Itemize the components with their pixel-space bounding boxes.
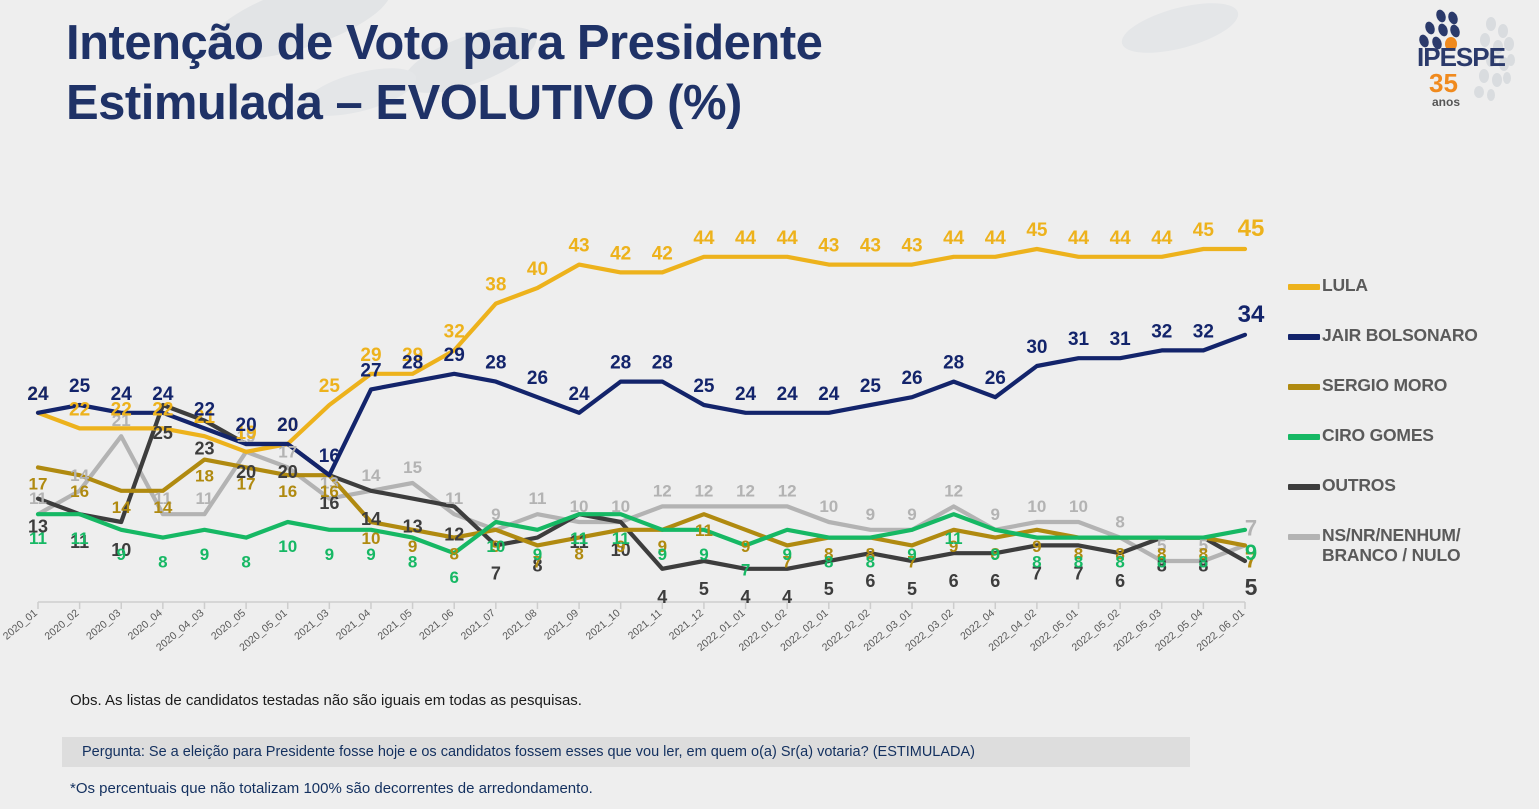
data-label: 4	[741, 587, 751, 607]
legend-swatch-bolsonaro	[1288, 334, 1320, 340]
data-label: 11	[945, 529, 963, 548]
title-line-1: Intenção de Voto para Presidente	[66, 14, 1186, 74]
data-label: 11	[695, 521, 713, 540]
data-label: 10	[278, 537, 297, 556]
data-label: 15	[403, 458, 422, 477]
x-axis-label: 2022_04	[958, 607, 997, 643]
title-line-2: Estimulada – EVOLUTIVO (%)	[66, 74, 1186, 134]
data-label: 11	[29, 529, 47, 548]
data-label: 32	[444, 321, 465, 342]
x-axis-label: 2021_09	[542, 607, 581, 643]
data-label: 5	[1245, 574, 1258, 600]
data-label: 24	[152, 384, 174, 405]
legend-label-nsnr: NS/NR/NENHUM/ BRANCO / NULO	[1322, 525, 1536, 565]
data-label: 9	[533, 545, 542, 564]
x-axis-label: 2020_01	[1, 607, 40, 643]
data-label: 8	[408, 553, 417, 572]
data-label: 9	[991, 505, 1000, 524]
data-label: 40	[527, 259, 548, 280]
data-label: 22	[69, 399, 90, 420]
data-label: 28	[610, 353, 631, 374]
data-label: 8	[1115, 513, 1124, 532]
data-label: 11	[445, 489, 463, 508]
data-label: 8	[1199, 553, 1208, 572]
data-label: 13	[403, 517, 423, 537]
data-label: 25	[69, 376, 91, 397]
data-label: 44	[943, 228, 965, 249]
data-label: 9	[200, 545, 209, 564]
question-text: Pergunta: Se a eleição para Presidente f…	[62, 744, 975, 760]
data-label: 34	[1238, 301, 1265, 328]
x-axis-label: 2020_05	[209, 607, 248, 643]
data-label: 7	[741, 560, 750, 579]
data-label: 16	[320, 482, 339, 501]
data-label: 14	[112, 498, 131, 517]
data-label: 17	[237, 474, 256, 493]
data-label: 45	[1026, 220, 1048, 241]
data-label: 8	[1074, 553, 1083, 572]
data-label: 43	[568, 236, 589, 257]
data-label: 8	[1115, 553, 1124, 572]
data-label: 22	[194, 399, 215, 420]
data-label: 8	[158, 553, 167, 572]
legend-item-ciro[interactable]: CIRO GOMES	[1288, 425, 1536, 475]
data-label: 42	[652, 243, 673, 264]
data-label: 6	[949, 571, 959, 591]
data-label: 32	[1193, 321, 1214, 342]
data-label: 24	[27, 384, 49, 405]
data-label: 23	[194, 439, 214, 459]
legend-swatch-nsnr	[1288, 534, 1320, 540]
data-label: 14	[153, 498, 172, 517]
data-label: 4	[657, 587, 667, 607]
data-label: 38	[485, 275, 506, 296]
legend-label-ciro: CIRO GOMES	[1322, 425, 1434, 445]
data-label: 43	[901, 236, 922, 257]
x-axis-label: 2021_10	[584, 607, 623, 643]
data-label: 8	[866, 553, 875, 572]
data-label: 20	[236, 415, 257, 436]
data-label: 10	[611, 497, 630, 516]
legend-item-nsnr[interactable]: NS/NR/NENHUM/ BRANCO / NULO	[1288, 525, 1536, 575]
data-label: 44	[777, 228, 799, 249]
data-label: 12	[653, 481, 672, 500]
data-label: 17	[278, 442, 297, 461]
data-label: 16	[278, 482, 297, 501]
data-label: 9	[866, 505, 875, 524]
data-label: 27	[360, 360, 381, 381]
rounding-footnote: *Os percentuais que não totalizam 100% s…	[70, 780, 593, 797]
data-label: 7	[1245, 515, 1257, 540]
evolution-line-chart: 2020_012020_022020_032020_042020_04_0320…	[0, 200, 1290, 670]
x-axis-label: 2021_08	[500, 607, 539, 643]
x-axis-label: 2021_11	[626, 607, 665, 642]
ipespe-logo: IPESPE 35 anos	[1399, 4, 1519, 114]
data-label: 16	[319, 446, 340, 467]
data-label: 7	[491, 563, 501, 583]
legend-label-bolsonaro: JAIR BOLSONARO	[1322, 325, 1478, 345]
data-label: 9	[366, 545, 375, 564]
data-label: 12	[444, 524, 464, 544]
data-label: 10	[1027, 497, 1046, 516]
data-label: 8	[824, 553, 833, 572]
data-label: 26	[527, 368, 548, 389]
data-label: 5	[824, 579, 834, 599]
data-label: 8	[1032, 553, 1041, 572]
x-axis-label: 2021_03	[292, 607, 331, 643]
data-label: 17	[29, 474, 48, 493]
data-label: 4	[782, 587, 792, 607]
legend-swatch-lula	[1288, 284, 1320, 290]
data-label: 25	[319, 376, 341, 397]
legend-swatch-outros	[1288, 484, 1320, 490]
data-label: 20	[278, 462, 298, 482]
data-label: 26	[901, 368, 922, 389]
data-label: 25	[860, 376, 882, 397]
data-label: 11	[612, 529, 630, 548]
x-axis-label: 2020_02	[43, 607, 82, 643]
data-label: 24	[111, 384, 133, 405]
data-label: 24	[568, 384, 590, 405]
legend-swatch-ciro	[1288, 434, 1320, 440]
data-label: 11	[528, 489, 546, 508]
series-line-lula	[38, 249, 1245, 452]
x-axis-label: 2020_03	[84, 607, 123, 643]
data-label: 14	[361, 509, 381, 529]
legend-label-moro: SERGIO MORO	[1322, 375, 1447, 395]
data-label: 14	[362, 466, 381, 485]
data-label: 9	[907, 545, 916, 564]
legend-item-moro[interactable]: SERGIO MORO	[1288, 375, 1536, 425]
data-label: 9	[782, 545, 791, 564]
x-axis-label: 2021_05	[375, 607, 414, 643]
data-label: 11	[71, 529, 89, 548]
data-label: 45	[1238, 215, 1265, 242]
data-label: 8	[449, 545, 458, 564]
data-label: 29	[444, 345, 465, 366]
data-label: 26	[985, 368, 1006, 389]
data-label: 6	[1115, 571, 1125, 591]
data-label: 9	[658, 545, 667, 564]
data-label: 11	[195, 489, 213, 508]
legend-item-outros[interactable]: OUTROS	[1288, 475, 1536, 525]
data-label: 9	[991, 545, 1000, 564]
chart-plot-area: 2020_012020_022020_032020_042020_04_0320…	[0, 200, 1290, 670]
data-label: 10	[819, 497, 838, 516]
data-label: 28	[652, 353, 673, 374]
data-label: 12	[736, 481, 755, 500]
data-label: 30	[1026, 337, 1047, 358]
svg-text:35: 35	[1429, 68, 1458, 98]
data-label: 44	[693, 228, 715, 249]
data-label: 8	[1157, 553, 1166, 572]
legend-item-lula[interactable]: LULA	[1288, 275, 1536, 325]
data-label: 24	[735, 384, 757, 405]
data-label: 18	[195, 467, 214, 486]
data-label: 8	[241, 553, 250, 572]
data-label: 28	[943, 353, 964, 374]
data-label: 31	[1110, 329, 1132, 350]
x-axis-label: 2020_04	[126, 607, 165, 643]
svg-text:anos: anos	[1432, 95, 1460, 109]
legend-item-bolsonaro[interactable]: JAIR BOLSONARO	[1288, 325, 1536, 375]
data-label: 25	[693, 376, 715, 397]
data-label: 5	[699, 579, 709, 599]
data-label: 6	[865, 571, 875, 591]
data-label: 9	[1245, 540, 1257, 565]
data-label: 9	[741, 537, 750, 556]
data-label: 44	[1068, 228, 1090, 249]
data-label: 6	[990, 571, 1000, 591]
data-label: 45	[1193, 220, 1215, 241]
data-label: 24	[777, 384, 799, 405]
data-label: 43	[818, 236, 839, 257]
series-line-jair-bolsonaro	[38, 335, 1245, 475]
data-label: 44	[735, 228, 757, 249]
data-label: 12	[778, 481, 797, 500]
x-axis-label: 2021_04	[334, 607, 373, 643]
data-label: 16	[70, 482, 89, 501]
data-label: 12	[694, 481, 713, 500]
observation-note: Obs. As listas de candidatos testadas nã…	[70, 692, 582, 709]
x-axis-label: 2021_07	[459, 607, 498, 643]
legend-label-outros: OUTROS	[1322, 475, 1396, 495]
data-label: 10	[486, 537, 505, 556]
data-label: 28	[402, 353, 423, 374]
data-label: 44	[1110, 228, 1132, 249]
data-label: 6	[449, 568, 458, 587]
data-label: 11	[570, 529, 588, 548]
question-bar: Pergunta: Se a eleição para Presidente f…	[62, 737, 1190, 767]
data-label: 25	[153, 423, 173, 443]
data-label: 28	[485, 353, 506, 374]
data-label: 44	[985, 228, 1007, 249]
data-label: 10	[1069, 497, 1088, 516]
data-label: 9	[699, 545, 708, 564]
x-axis-label: 2021_06	[417, 607, 456, 643]
data-label: 43	[860, 236, 881, 257]
legend-swatch-moro	[1288, 384, 1320, 390]
chart-legend: LULA JAIR BOLSONARO SERGIO MORO CIRO GOM…	[1288, 275, 1536, 575]
data-label: 32	[1151, 321, 1172, 342]
data-label: 20	[277, 415, 298, 436]
data-label: 42	[610, 243, 631, 264]
x-axis-label: 2021_12	[667, 607, 706, 643]
data-label: 31	[1068, 329, 1090, 350]
data-label: 24	[818, 384, 840, 405]
series-line-outros	[38, 405, 1245, 569]
data-label: 9	[907, 505, 916, 524]
data-label: 9	[117, 545, 126, 564]
data-label: 44	[1151, 228, 1173, 249]
page-title: Intenção de Voto para Presidente Estimul…	[66, 14, 1186, 134]
legend-label-lula: LULA	[1322, 275, 1368, 295]
data-label: 9	[325, 545, 334, 564]
data-label: 10	[570, 497, 589, 516]
data-label: 5	[907, 579, 917, 599]
data-label: 9	[491, 505, 500, 524]
data-label: 12	[944, 481, 963, 500]
